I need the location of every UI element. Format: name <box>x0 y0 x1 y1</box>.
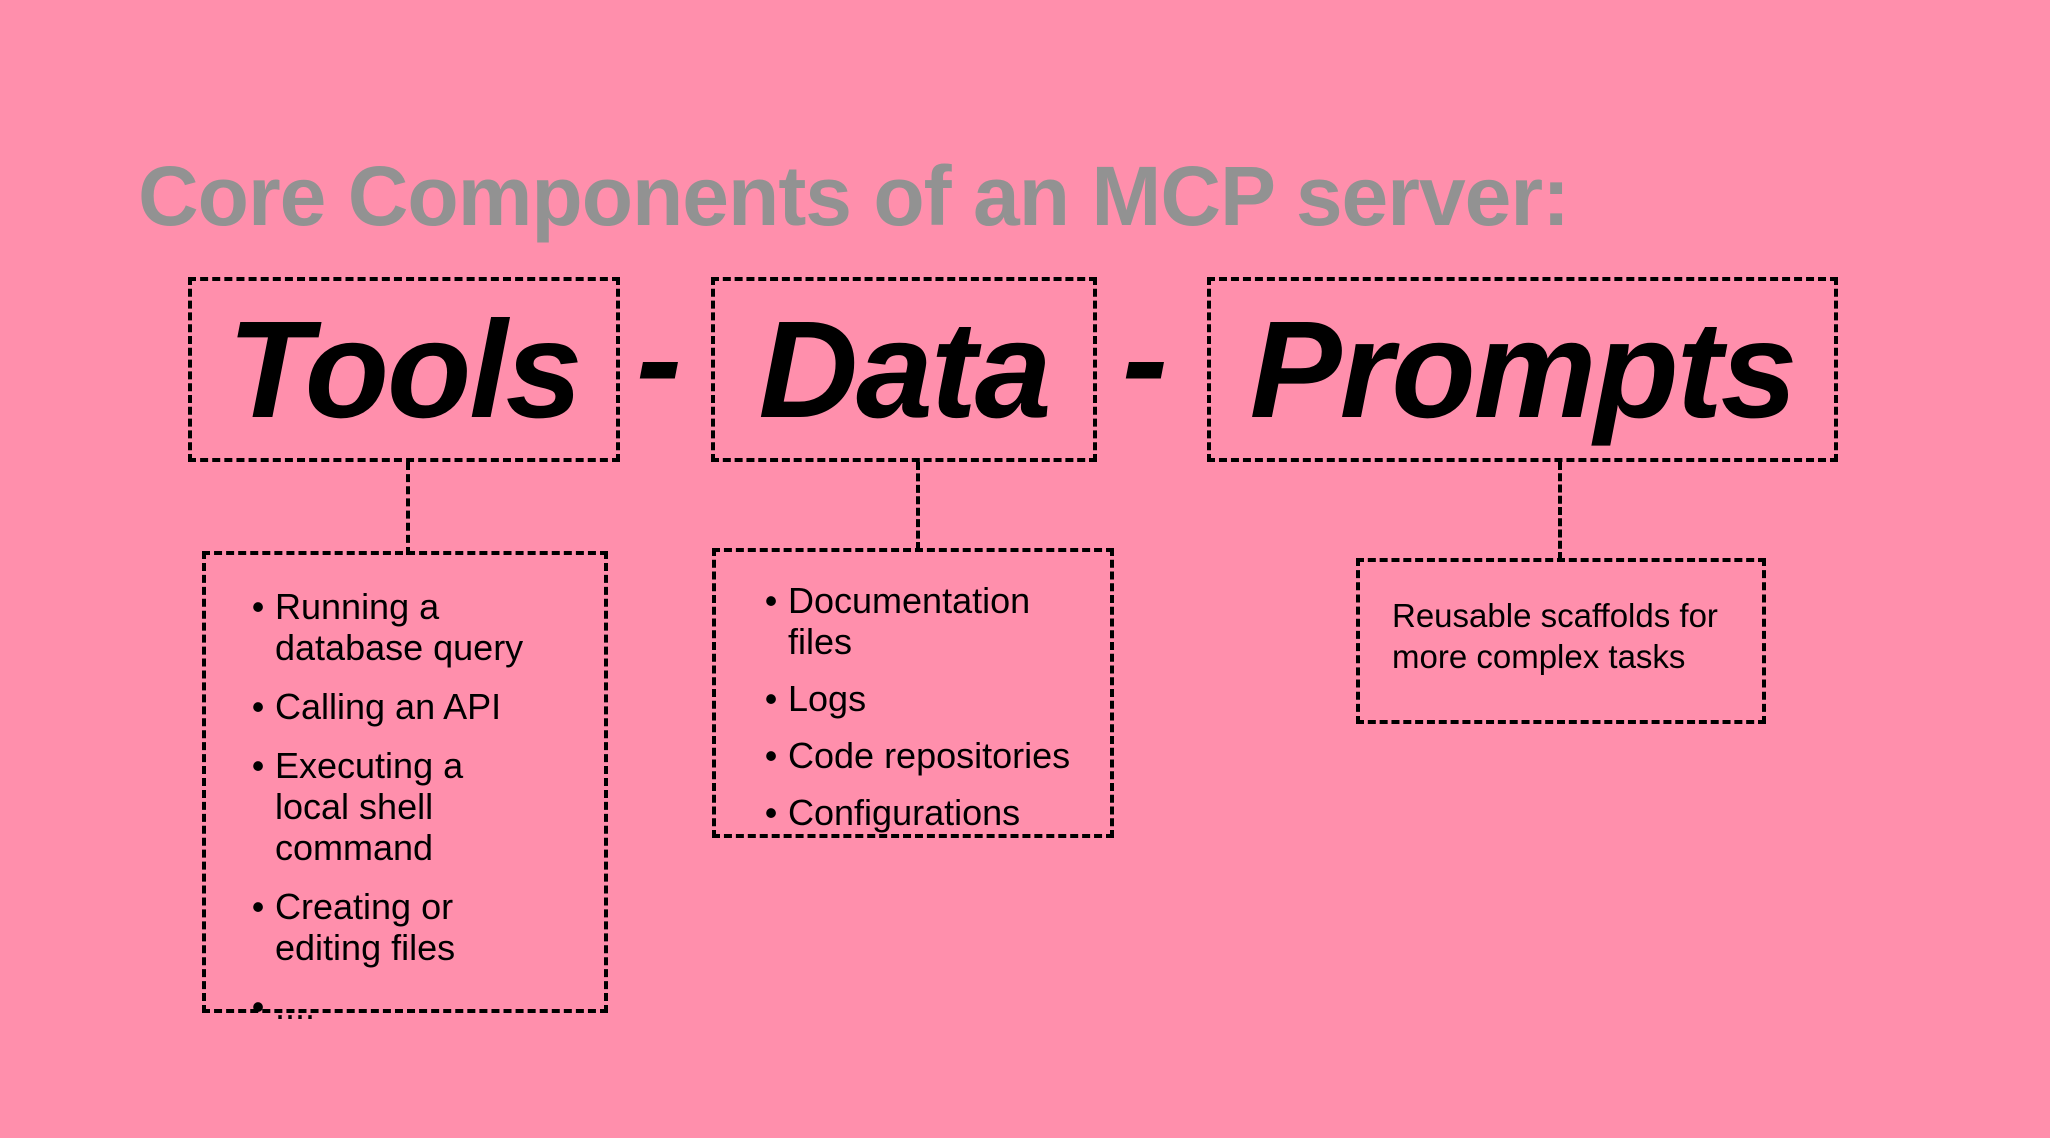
list-item: • Creating or editing files <box>241 886 541 968</box>
prompts-description: Reusable scaffolds for more complex task… <box>1360 562 1742 677</box>
connector-line-data <box>916 462 920 550</box>
list-item-label: Documentation files <box>788 580 1094 662</box>
separator-dash-2: - <box>1122 290 1168 428</box>
bullet-icon: • <box>241 586 275 627</box>
connector-line-tools <box>406 462 410 555</box>
component-box-prompts: Prompts <box>1207 277 1838 462</box>
detail-box-prompts: Reusable scaffolds for more complex task… <box>1356 558 1766 724</box>
bullet-icon: • <box>754 678 788 719</box>
list-item: • Configurations <box>754 792 1094 833</box>
bullet-icon: • <box>241 745 275 786</box>
list-item-label: Running a database query <box>275 586 541 668</box>
component-box-data: Data <box>711 277 1097 462</box>
bullet-icon: • <box>241 986 275 1027</box>
detail-box-tools: • Running a database query • Calling an … <box>202 551 608 1013</box>
bullet-icon: • <box>754 792 788 833</box>
tools-bullet-list: • Running a database query • Calling an … <box>206 555 639 1040</box>
slide-canvas: Core Components of an MCP server: Tools … <box>0 0 2050 1138</box>
list-item: • Calling an API <box>241 686 541 727</box>
component-term-data: Data <box>758 301 1049 439</box>
component-term-tools: Tools <box>228 301 581 439</box>
separator-dash-1: - <box>636 290 682 428</box>
bullet-icon: • <box>754 580 788 621</box>
list-item: • Running a database query <box>241 586 541 668</box>
list-item-label: Logs <box>788 678 1094 719</box>
data-bullet-list: • Documentation files • Logs • Code repo… <box>716 552 1148 862</box>
list-item: • .... <box>241 986 541 1027</box>
list-item-label: .... <box>275 986 541 1027</box>
list-item-label: Code repositories <box>788 735 1094 776</box>
list-item: • Documentation files <box>754 580 1094 662</box>
page-title: Core Components of an MCP server: <box>138 148 1569 244</box>
list-item-label: Executing a local shell command <box>275 745 541 868</box>
list-item: • Logs <box>754 678 1094 719</box>
list-item-label: Creating or editing files <box>275 886 541 968</box>
component-box-tools: Tools <box>188 277 620 462</box>
bullet-icon: • <box>241 686 275 727</box>
bullet-icon: • <box>241 886 275 927</box>
component-term-prompts: Prompts <box>1250 301 1796 439</box>
connector-line-prompts <box>1558 462 1562 560</box>
list-item: • Executing a local shell command <box>241 745 541 868</box>
list-item-label: Calling an API <box>275 686 541 727</box>
list-item: • Code repositories <box>754 735 1094 776</box>
bullet-icon: • <box>754 735 788 776</box>
list-item-label: Configurations <box>788 792 1094 833</box>
detail-box-data: • Documentation files • Logs • Code repo… <box>712 548 1114 838</box>
